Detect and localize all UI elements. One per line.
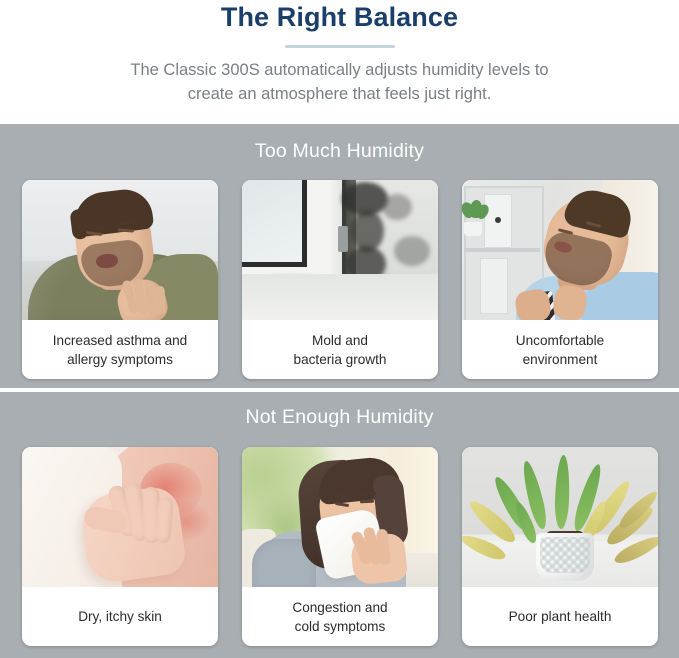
caption-line-1: Uncomfortable <box>516 333 604 348</box>
card-caption: Mold and bacteria growth <box>242 320 438 379</box>
title-divider-rule <box>285 45 395 48</box>
product-feature-page: The Right Balance The Classic 300S autom… <box>0 0 679 658</box>
card-poor-plant-health[interactable]: Poor plant health <box>462 447 658 646</box>
caption-line-1: Mold and <box>312 333 368 348</box>
card-increased-asthma[interactable]: Increased asthma and allergy symptoms <box>22 180 218 379</box>
card-caption: Dry, itchy skin <box>22 587 218 646</box>
page-subtitle: The Classic 300S automatically adjusts h… <box>60 58 619 106</box>
caption-line-1: Increased asthma and <box>53 333 188 348</box>
wilting-houseplant-photo <box>462 447 658 587</box>
woman-blowing-nose-photo <box>242 447 438 587</box>
caption-line-1: Poor plant health <box>509 609 612 624</box>
section-heading-too-much-humidity: Too Much Humidity <box>0 140 679 163</box>
card-uncomfortable-environment[interactable]: Uncomfortable environment <box>462 180 658 379</box>
man-loosening-tie-photo <box>462 180 658 320</box>
card-caption: Uncomfortable environment <box>462 320 658 379</box>
card-caption: Congestion and cold symptoms <box>242 587 438 646</box>
caption-line-1: Congestion and <box>292 600 387 615</box>
scratching-irritated-arm-photo <box>22 447 218 587</box>
caption-line-1: Dry, itchy skin <box>78 609 162 624</box>
caption-line-2: bacteria growth <box>294 352 387 367</box>
page-title: The Right Balance <box>0 2 679 33</box>
card-caption: Poor plant health <box>462 587 658 646</box>
mold-window-corner-photo <box>242 180 438 320</box>
card-dry-itchy-skin[interactable]: Dry, itchy skin <box>22 447 218 646</box>
caption-line-2: allergy symptoms <box>67 352 173 367</box>
header-section: The Right Balance The Classic 300S autom… <box>0 0 679 124</box>
man-coughing-photo <box>22 180 218 320</box>
caption-line-2: cold symptoms <box>295 619 386 634</box>
subtitle-line-1: The Classic 300S automatically adjusts h… <box>130 61 548 79</box>
card-mold-bacteria[interactable]: Mold and bacteria growth <box>242 180 438 379</box>
section-heading-not-enough-humidity: Not Enough Humidity <box>0 406 679 429</box>
subtitle-line-2: create an atmosphere that feels just rig… <box>60 82 619 106</box>
card-congestion-cold[interactable]: Congestion and cold symptoms <box>242 447 438 646</box>
card-caption: Increased asthma and allergy symptoms <box>22 320 218 379</box>
caption-line-2: environment <box>523 352 598 367</box>
